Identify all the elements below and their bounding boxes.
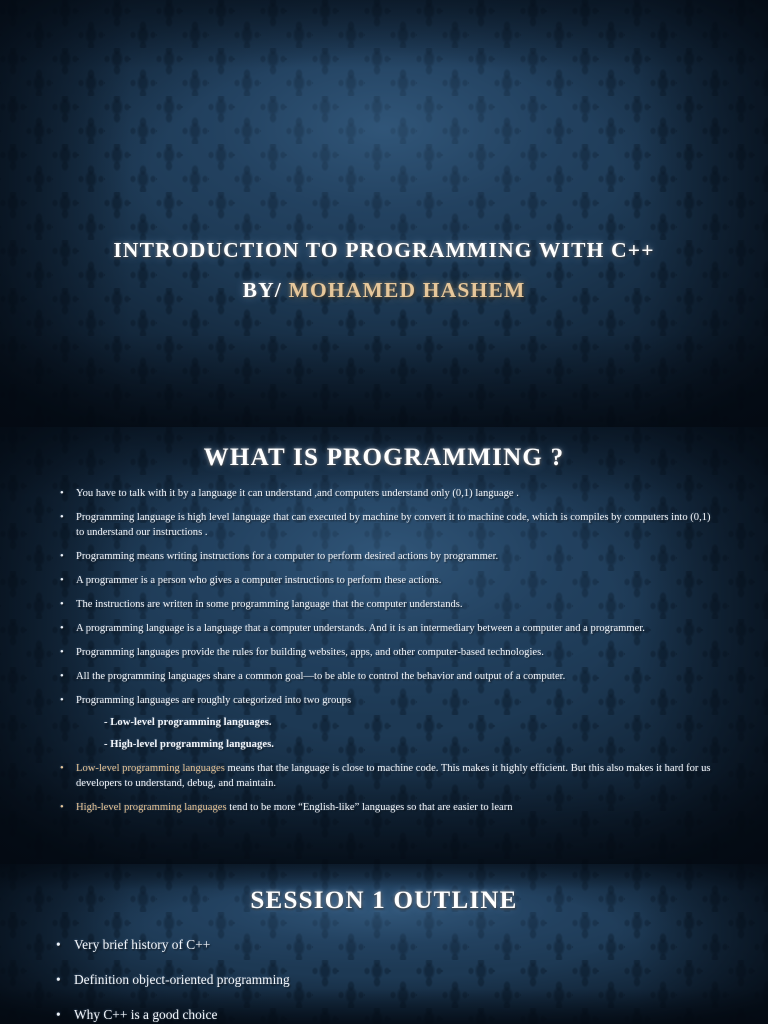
list-item: Why C++ is a good choice (56, 1005, 728, 1024)
bullet-text: Programming languages provide the rules … (76, 647, 544, 658)
bullet-list: Very brief history of C++ Definition obj… (0, 935, 768, 1024)
bullet-text: All the programming languages share a co… (76, 671, 565, 682)
list-item: A programmer is a person who gives a com… (60, 573, 720, 588)
bullet-text: A programming language is a language tha… (76, 623, 645, 634)
bullet-text: Why C++ is a good choice (74, 1007, 217, 1022)
sub-bullet-text: Low-level programming languages. (110, 717, 271, 728)
byline-author-name: MOHAMED HASHEM (289, 278, 526, 302)
slide-what-is-programming: WHAT IS PROGRAMMING ? You have to talk w… (0, 427, 768, 864)
bullet-text: You have to talk with it by a language i… (76, 488, 519, 499)
deck-title: INTRODUCTION TO PROGRAMMING WITH C++ (0, 238, 768, 263)
bullet-list: You have to talk with it by a language i… (0, 486, 768, 815)
bullet-text: The instructions are written in some pro… (76, 599, 463, 610)
bullet-text: Definition object-oriented programming (74, 972, 290, 987)
list-item: Programming languages provide the rules … (60, 645, 720, 660)
list-item: Programming language is high level langu… (60, 510, 720, 540)
list-item: Very brief history of C++ (56, 935, 728, 955)
bullet-text: Programming languages are roughly catego… (76, 695, 351, 706)
slide-heading: SESSION 1 OUTLINE (0, 864, 768, 915)
bullet-text: A programmer is a person who gives a com… (76, 575, 441, 586)
list-item: Definition object-oriented programming (56, 970, 728, 990)
sub-list-item: Low-level programming languages. (104, 715, 720, 730)
slide-session-1-outline: SESSION 1 OUTLINE Very brief history of … (0, 864, 768, 1024)
list-item: All the programming languages share a co… (60, 669, 720, 684)
sub-bullet-list: Low-level programming languages. High-le… (76, 715, 720, 752)
bullet-text: Programming language is high level langu… (76, 512, 711, 538)
slide-deck-page: INTRODUCTION TO PROGRAMMING WITH C++ BY/… (0, 0, 768, 1024)
list-item: You have to talk with it by a language i… (60, 486, 720, 501)
list-item-high-level: High-level programming languages tend to… (60, 800, 720, 815)
byline-prefix: BY/ (243, 278, 282, 302)
list-item-low-level: Low-level programming languages means th… (60, 761, 720, 791)
sub-list-item: High-level programming languages. (104, 737, 720, 752)
list-item: A programming language is a language tha… (60, 621, 720, 636)
sub-bullet-text: High-level programming languages. (110, 739, 274, 750)
list-item: The instructions are written in some pro… (60, 597, 720, 612)
bullet-text: Programming means writing instructions f… (76, 551, 498, 562)
bullet-text: tend to be more “English-like” languages… (227, 802, 513, 813)
bullet-highlight-term: Low-level programming languages (76, 763, 225, 774)
slide-title: INTRODUCTION TO PROGRAMMING WITH C++ BY/… (0, 0, 768, 427)
deck-byline: BY/ MOHAMED HASHEM (0, 278, 768, 303)
bullet-text: Very brief history of C++ (74, 937, 210, 952)
slide-heading: WHAT IS PROGRAMMING ? (0, 427, 768, 472)
list-item: Programming means writing instructions f… (60, 549, 720, 564)
list-item: Programming languages are roughly catego… (60, 693, 720, 752)
bullet-highlight-term: High-level programming languages (76, 802, 227, 813)
